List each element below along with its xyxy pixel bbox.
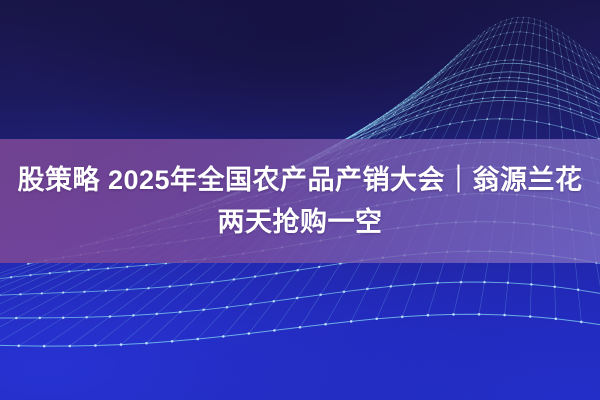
banner-image: 股策略 2025年全国农产品产销大会｜翁源兰花 两天抢购一空 <box>0 0 600 400</box>
headline-block: 股策略 2025年全国农产品产销大会｜翁源兰花 两天抢购一空 <box>0 139 600 263</box>
headline-line-1: 股策略 2025年全国农产品产销大会｜翁源兰花 <box>17 160 582 200</box>
headline-line-2: 两天抢购一空 <box>218 202 383 242</box>
